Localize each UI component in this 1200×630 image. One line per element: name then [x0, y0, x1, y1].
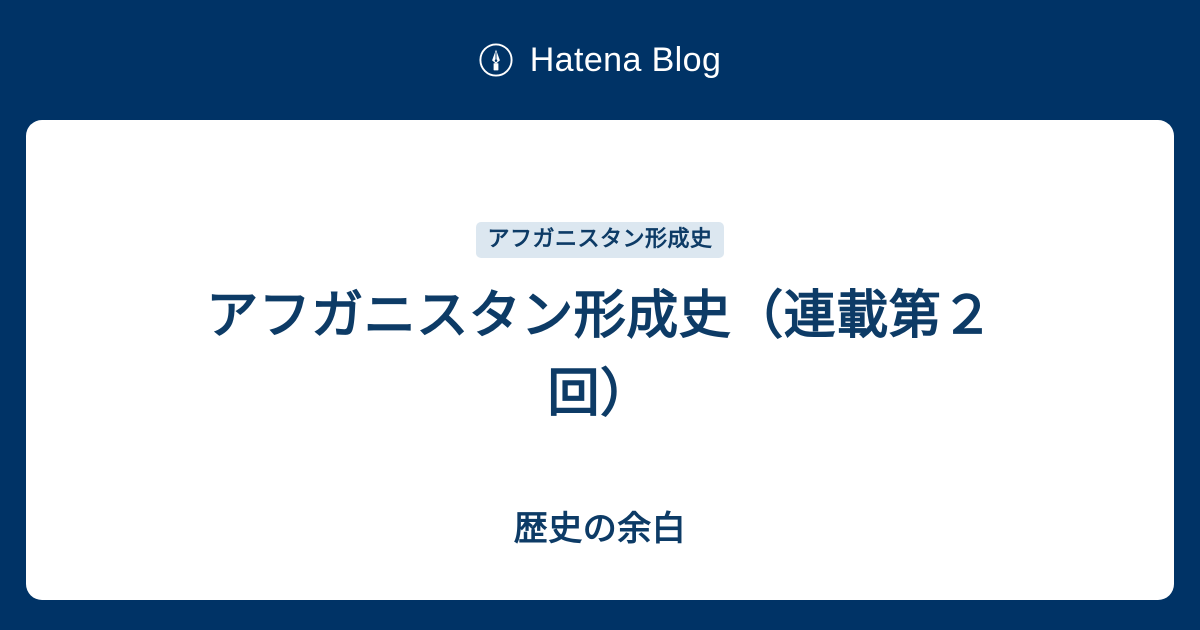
blog-name[interactable]: 歴史の余白	[26, 509, 1174, 550]
brand-header: Hatena Blog	[0, 0, 1200, 120]
category-tag[interactable]: アフガニスタン形成史	[476, 222, 723, 258]
entry-card: アフガニスタン形成史 アフガニスタン形成史（連載第２回） 歴史の余白	[26, 120, 1174, 600]
ogp-canvas: Hatena Blog アフガニスタン形成史 アフガニスタン形成史（連載第２回）…	[0, 0, 1200, 630]
brand-wordmark: Hatena Blog	[530, 43, 722, 77]
card-top-block: アフガニスタン形成史 アフガニスタン形成史（連載第２回）	[26, 120, 1174, 433]
pen-nib-circle-icon	[479, 43, 513, 77]
entry-title: アフガニスタン形成史（連載第２回）	[200, 277, 1000, 433]
